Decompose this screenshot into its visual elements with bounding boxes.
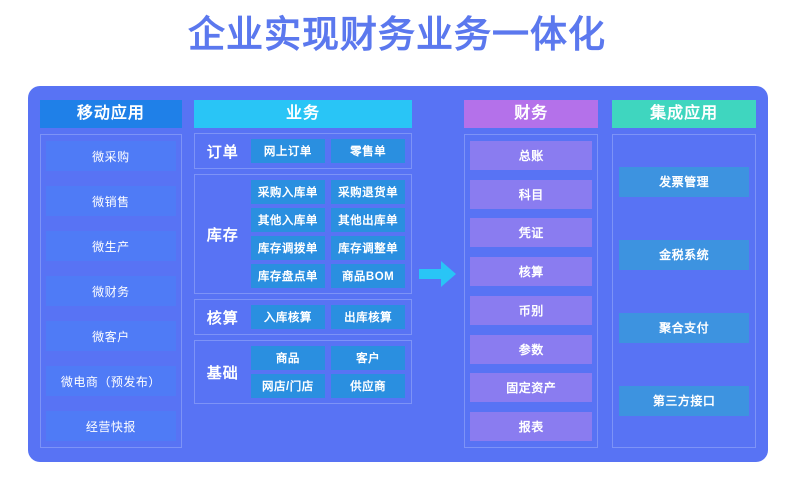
finance-item-3[interactable]: 核算 <box>470 257 592 286</box>
business-tile-other-in[interactable]: 其他入库单 <box>251 208 325 232</box>
column-integration: 集成应用 发票管理 金税系统 聚合支付 第三方接口 <box>612 100 756 448</box>
business-group-label-inventory: 库存 <box>201 224 245 245</box>
finance-item-2[interactable]: 凭证 <box>470 218 592 247</box>
column-header-mobile-apps: 移动应用 <box>40 100 182 128</box>
business-tile-other-out[interactable]: 其他出库单 <box>331 208 405 232</box>
mobile-item-6[interactable]: 经营快报 <box>46 411 176 441</box>
business-tile-product[interactable]: 商品 <box>251 346 325 370</box>
business-group-accounting: 核算 入库核算 出库核算 <box>194 299 412 335</box>
flow-arrow-container <box>418 100 458 448</box>
finance-item-7[interactable]: 报表 <box>470 412 592 441</box>
mobile-item-4[interactable]: 微客户 <box>46 321 176 351</box>
finance-item-0[interactable]: 总账 <box>470 141 592 170</box>
finance-item-6[interactable]: 固定资产 <box>470 373 592 402</box>
integration-item-3[interactable]: 第三方接口 <box>619 386 749 416</box>
business-tile-purchase-in[interactable]: 采购入库单 <box>251 180 325 204</box>
business-tile-customer[interactable]: 客户 <box>331 346 405 370</box>
arrow-right-icon <box>418 259 458 289</box>
business-group-basic: 基础 商品 客户 网店/门店 供应商 <box>194 340 412 404</box>
business-tile-inbound-accounting[interactable]: 入库核算 <box>251 305 325 329</box>
business-group-label-basic: 基础 <box>201 362 245 383</box>
integration-item-2[interactable]: 聚合支付 <box>619 313 749 343</box>
business-tile-outbound-accounting[interactable]: 出库核算 <box>331 305 405 329</box>
mobile-item-3[interactable]: 微财务 <box>46 276 176 306</box>
integration-item-1[interactable]: 金税系统 <box>619 240 749 270</box>
mobile-item-1[interactable]: 微销售 <box>46 186 176 216</box>
mobile-item-2[interactable]: 微生产 <box>46 231 176 261</box>
column-header-finance: 财务 <box>464 100 598 128</box>
column-body-finance: 总账 科目 凭证 核算 币别 参数 固定资产 报表 <box>464 134 598 448</box>
column-header-integration: 集成应用 <box>612 100 756 128</box>
column-business: 业务 订单 网上订单 零售单 库存 采购入库单 采购退货单 <box>194 100 412 448</box>
mobile-item-5[interactable]: 微电商（预发布） <box>46 366 176 396</box>
business-group-inventory: 库存 采购入库单 采购退货单 其他入库单 其他出库单 库存调拨单 库存调整单 <box>194 174 412 294</box>
column-finance: 财务 总账 科目 凭证 核算 币别 参数 固定资产 报表 <box>464 100 598 448</box>
business-tile-retail-order[interactable]: 零售单 <box>331 139 405 163</box>
finance-item-1[interactable]: 科目 <box>470 180 592 209</box>
finance-item-5[interactable]: 参数 <box>470 335 592 364</box>
mobile-item-0[interactable]: 微采购 <box>46 141 176 171</box>
business-group-order: 订单 网上订单 零售单 <box>194 133 412 169</box>
architecture-board: 移动应用 微采购 微销售 微生产 微财务 微客户 微电商（预发布） 经营快报 业… <box>28 86 768 462</box>
business-tile-online-order[interactable]: 网上订单 <box>251 139 325 163</box>
business-tile-shop[interactable]: 网店/门店 <box>251 374 325 398</box>
column-body-mobile-apps: 微采购 微销售 微生产 微财务 微客户 微电商（预发布） 经营快报 <box>40 134 182 448</box>
business-group-label-order: 订单 <box>201 141 245 162</box>
business-tile-purchase-return[interactable]: 采购退货单 <box>331 180 405 204</box>
business-tile-product-bom[interactable]: 商品BOM <box>331 264 405 288</box>
business-tile-supplier[interactable]: 供应商 <box>331 374 405 398</box>
column-body-integration: 发票管理 金税系统 聚合支付 第三方接口 <box>612 134 756 448</box>
finance-item-4[interactable]: 币别 <box>470 296 592 325</box>
column-body-business: 订单 网上订单 零售单 库存 采购入库单 采购退货单 其他入库单 <box>194 133 412 448</box>
integration-item-0[interactable]: 发票管理 <box>619 167 749 197</box>
business-tile-stock-adjust[interactable]: 库存调整单 <box>331 236 405 260</box>
column-header-business: 业务 <box>194 100 412 128</box>
business-tile-stock-count[interactable]: 库存盘点单 <box>251 264 325 288</box>
business-tile-stock-transfer[interactable]: 库存调拨单 <box>251 236 325 260</box>
column-mobile-apps: 移动应用 微采购 微销售 微生产 微财务 微客户 微电商（预发布） 经营快报 <box>40 100 182 448</box>
page-title: 企业实现财务业务一体化 <box>0 0 794 46</box>
business-group-label-accounting: 核算 <box>201 307 245 328</box>
